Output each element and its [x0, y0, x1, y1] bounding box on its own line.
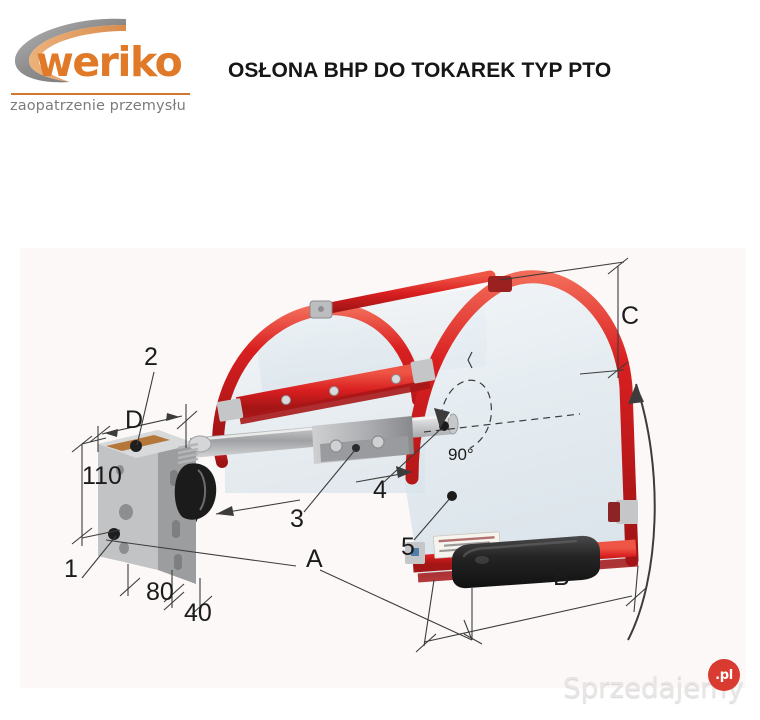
callout-label-2: 2	[144, 345, 158, 370]
page-header: weriko zaopatrzenie przemysłu OSŁONA BHP…	[0, 0, 760, 130]
callout-label-5: 5	[401, 535, 415, 560]
arch-clamp-far	[310, 301, 332, 318]
page-title: OSŁONA BHP DO TOKAREK TYP PTO	[228, 59, 611, 83]
angle-label-90: 90°	[448, 446, 474, 463]
dimension-label-40: 40	[184, 601, 212, 626]
arch-clip-right	[608, 500, 638, 524]
dimension-label-110: 110	[82, 464, 122, 489]
callout-label-3: 3	[290, 507, 304, 532]
dimension-label-A: A	[306, 547, 323, 572]
dimension-label-80: 80	[146, 580, 174, 605]
logo-tagline: zaopatrzenie przemysłu	[10, 98, 196, 114]
product-diagram: D 110 80 40 A B C 1 2 3 4 5 90°	[20, 248, 746, 688]
callout-label-4: 4	[373, 478, 387, 503]
logo-divider	[11, 93, 190, 95]
dimension-label-D: D	[125, 408, 143, 433]
site-watermark: Sprzedajemy .pl	[563, 668, 744, 708]
dimension-label-C: C	[621, 304, 639, 329]
watermark-badge: .pl	[708, 659, 740, 691]
company-logo: weriko zaopatrzenie przemysłu	[4, 14, 196, 118]
logo-wordmark: weriko	[36, 42, 196, 83]
dimension-label-B: B	[553, 565, 570, 590]
callout-label-1: 1	[64, 557, 78, 582]
